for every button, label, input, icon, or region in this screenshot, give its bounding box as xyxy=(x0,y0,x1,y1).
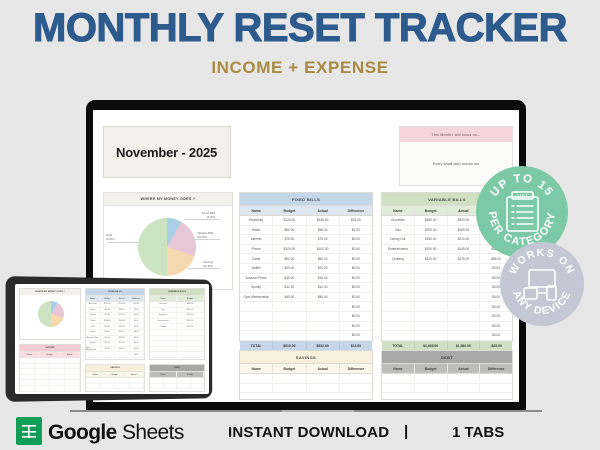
table-cell[interactable]: Netflix xyxy=(86,330,101,335)
header: MONTHLY RESET TRACKER INCOME + EXPENSE xyxy=(0,0,600,96)
month-label: November - 2025 xyxy=(116,145,217,160)
table-cell[interactable]: Gas xyxy=(382,226,415,235)
table-cell[interactable]: Electricity xyxy=(86,302,101,307)
table-cell[interactable] xyxy=(50,380,65,385)
table-cell[interactable]: $150.00 xyxy=(177,313,204,318)
badge-device-art: WORKS ON ANY DEVICE xyxy=(500,242,584,326)
col-difference: Difference xyxy=(480,364,512,373)
fixed-bills-header: Name Budget Actual Difference xyxy=(240,205,372,216)
table-cell[interactable] xyxy=(273,312,306,321)
table-cell[interactable] xyxy=(177,330,204,335)
table-cell[interactable]: $120.00 xyxy=(415,254,448,263)
page-subtitle: INCOME + EXPENSE xyxy=(0,58,600,78)
table-row[interactable] xyxy=(382,374,512,384)
table-cell[interactable] xyxy=(35,358,50,363)
table-row[interactable]: Gym Membership$45.00$45.00$0.00 xyxy=(240,293,372,303)
table-cell[interactable] xyxy=(50,358,65,363)
table-cell[interactable]: $15.00 xyxy=(115,336,130,341)
table-row[interactable]: $0.00 xyxy=(382,293,512,303)
table-cell[interactable]: $100.00 xyxy=(115,319,130,324)
table-cell[interactable] xyxy=(35,375,50,380)
table-cell[interactable] xyxy=(382,302,415,311)
table-cell[interactable] xyxy=(150,341,177,346)
table-cell[interactable] xyxy=(382,331,415,340)
table-row[interactable] xyxy=(150,352,204,358)
table-cell[interactable] xyxy=(35,386,50,391)
debt-rows xyxy=(382,374,512,393)
table-cell[interactable] xyxy=(130,384,145,389)
col-budget: Budget xyxy=(177,296,204,301)
table-cell[interactable]: Dining Out xyxy=(150,313,177,318)
table-cell[interactable]: $0.00 xyxy=(130,336,145,341)
table-cell[interactable]: $0.00 xyxy=(340,254,372,263)
tablet-variable-rows: Groceries$480.00Gas$200.00Dining Out$150… xyxy=(150,302,204,358)
table-cell[interactable]: $100.00 xyxy=(415,245,448,254)
table-cell[interactable] xyxy=(240,322,273,331)
table-cell[interactable] xyxy=(382,322,415,331)
table-cell[interactable] xyxy=(273,302,306,311)
table-cell[interactable]: $0.00 xyxy=(130,347,145,352)
table-cell[interactable]: Gym Membership xyxy=(86,347,101,352)
table-row[interactable]: $0.00 xyxy=(240,331,372,341)
table-cell[interactable]: $0.00 xyxy=(340,274,372,283)
table-cell[interactable] xyxy=(415,312,448,321)
table-row[interactable]: $0.00 xyxy=(86,352,144,358)
table-cell[interactable]: $135.00 xyxy=(115,302,130,307)
debt-table[interactable]: DEBT Name Budget Actual Difference xyxy=(381,350,513,400)
table-cell[interactable]: $12.00 xyxy=(273,283,306,292)
table-cell[interactable] xyxy=(415,374,448,383)
table-cell[interactable]: $0.00 xyxy=(130,324,145,329)
table-cell[interactable] xyxy=(115,384,130,389)
table-cell[interactable] xyxy=(240,374,273,383)
table-cell[interactable]: $12.00 xyxy=(101,341,116,346)
tablet-income-panel: INCOME Name Budget Actual xyxy=(19,344,81,392)
table-cell[interactable]: Internet xyxy=(240,235,273,244)
table-cell[interactable] xyxy=(35,369,50,374)
table-cell[interactable] xyxy=(65,386,80,391)
table-cell[interactable] xyxy=(50,369,65,374)
col-name: Name xyxy=(240,206,273,215)
table-cell[interactable]: $45.00 xyxy=(101,347,116,352)
table-cell[interactable] xyxy=(448,384,481,393)
table-cell[interactable] xyxy=(307,302,340,311)
table-cell[interactable] xyxy=(382,264,415,273)
table-cell[interactable] xyxy=(307,331,340,340)
col-difference: Difference xyxy=(340,364,372,373)
table-cell[interactable] xyxy=(448,312,481,321)
table-cell[interactable] xyxy=(50,364,65,369)
pie-chart-title: WHERE MY MONEY GOES ? xyxy=(104,193,232,206)
table-row[interactable]: $0.00 xyxy=(382,283,512,293)
table-cell[interactable] xyxy=(150,384,164,389)
table-cell[interactable]: $15.00 xyxy=(130,302,145,307)
table-row[interactable]: $0.00 xyxy=(240,312,372,322)
table-cell[interactable] xyxy=(340,374,372,383)
table-cell[interactable] xyxy=(240,312,273,321)
table-cell[interactable] xyxy=(130,389,145,394)
table-row[interactable]: $0.00 xyxy=(382,331,512,341)
table-cell[interactable]: $75.00 xyxy=(273,235,306,244)
table-row[interactable]: Amazon Prime$15.00$15.00$0.00 xyxy=(240,274,372,284)
table-cell[interactable]: $0.00 xyxy=(340,312,372,321)
table-cell[interactable]: Groceries xyxy=(150,302,177,307)
table-cell[interactable]: $0.00 xyxy=(340,331,372,340)
table-cell[interactable] xyxy=(101,389,116,394)
table-cell[interactable]: Gym Membership xyxy=(240,293,273,302)
table-cell[interactable]: $0.00 xyxy=(340,264,372,273)
table-cell[interactable] xyxy=(150,330,177,335)
table-cell[interactable]: $15.00 xyxy=(340,216,372,225)
table-row[interactable]: $0.00 xyxy=(382,264,512,274)
table-cell[interactable] xyxy=(115,352,130,357)
pie-label-debt: Debt(8.0%) xyxy=(106,234,115,241)
table-row[interactable] xyxy=(20,386,80,392)
table-row[interactable]: $0.00 xyxy=(382,274,512,284)
tablet-debt-panel: DEBT Name Budget xyxy=(149,364,205,392)
table-cell[interactable]: $120.00 xyxy=(273,216,306,225)
table-cell[interactable]: Amazon Prime xyxy=(240,274,273,283)
table-cell[interactable] xyxy=(382,384,415,393)
table-cell[interactable] xyxy=(480,374,512,383)
table-cell[interactable]: $20.00 xyxy=(101,330,116,335)
table-cell[interactable]: $0.00 xyxy=(130,341,145,346)
table-cell[interactable]: $100.00 xyxy=(177,319,204,324)
tablet-debt-header: Name Budget xyxy=(150,371,204,378)
table-cell[interactable]: $58.00 xyxy=(115,308,130,313)
table-cell[interactable] xyxy=(177,352,204,357)
table-cell[interactable] xyxy=(20,380,35,385)
table-cell[interactable] xyxy=(273,374,306,383)
table-cell[interactable]: $50.00 xyxy=(101,324,116,329)
tablet-savings-panel: SAVINGS Name Budget Actual xyxy=(85,364,145,392)
table-cell[interactable] xyxy=(448,374,481,383)
badge-any-device: WORKS ON ANY DEVICE xyxy=(500,242,584,326)
table-cell[interactable]: $0.00 xyxy=(340,283,372,292)
table-cell[interactable]: Spotify xyxy=(86,341,101,346)
tablet-savings-header: Name Budget Actual xyxy=(86,371,144,378)
table-cell[interactable]: Entertainment xyxy=(382,245,415,254)
table-cell[interactable] xyxy=(20,369,35,374)
table-cell[interactable] xyxy=(177,384,191,389)
table-cell[interactable] xyxy=(65,375,80,380)
table-cell[interactable]: $0.00 xyxy=(340,293,372,302)
table-row[interactable]: Water$60.00$58.00$2.00 xyxy=(240,226,372,236)
table-row[interactable]: Electricity$120.00$135.00$15.00 xyxy=(240,216,372,226)
table-cell[interactable]: $150.00 xyxy=(415,235,448,244)
table-cell[interactable] xyxy=(448,331,481,340)
table-cell[interactable] xyxy=(415,283,448,292)
col-name: Name xyxy=(240,364,273,373)
col-actual: Actual xyxy=(115,296,130,301)
table-row[interactable]: Cable$50.00$50.00$0.00 xyxy=(240,254,372,264)
table-cell[interactable]: $15.00 xyxy=(307,274,340,283)
table-cell[interactable] xyxy=(20,375,35,380)
page-title: MONTHLY RESET TRACKER xyxy=(0,6,600,51)
table-cell[interactable]: $12.00 xyxy=(115,341,130,346)
table-cell[interactable]: Water xyxy=(86,308,101,313)
table-cell[interactable] xyxy=(150,352,177,357)
table-cell[interactable]: $60.00 xyxy=(101,308,116,313)
table-cell[interactable]: Phone xyxy=(86,319,101,324)
debt-title: DEBT xyxy=(382,351,512,363)
table-cell[interactable] xyxy=(65,358,80,363)
table-cell[interactable] xyxy=(273,331,306,340)
table-cell[interactable]: $100.00 xyxy=(307,245,340,254)
col-actual: Actual xyxy=(60,352,80,357)
table-cell[interactable] xyxy=(307,322,340,331)
table-cell[interactable] xyxy=(448,274,481,283)
table-cell[interactable] xyxy=(480,384,512,393)
table-cell[interactable]: Internet xyxy=(86,313,101,318)
table-row[interactable] xyxy=(240,374,372,384)
table-cell[interactable] xyxy=(150,336,177,341)
table-cell[interactable] xyxy=(415,384,448,393)
table-cell[interactable] xyxy=(177,341,204,346)
tablet-variable-panel: VARIABLE BILLS Name Budget Groceries$480… xyxy=(149,288,205,360)
tablet-savings-rows xyxy=(86,378,144,394)
table-cell[interactable]: $45.00 xyxy=(307,293,340,302)
table-cell[interactable]: $15.00 xyxy=(273,274,306,283)
table-cell[interactable]: $50.00 xyxy=(273,254,306,263)
table-cell[interactable] xyxy=(415,274,448,283)
table-cell[interactable] xyxy=(448,302,481,311)
table-cell[interactable] xyxy=(448,293,481,302)
table-cell[interactable] xyxy=(415,302,448,311)
tablet-pie-chart xyxy=(38,301,64,327)
instant-download-label: INSTANT DOWNLOAD xyxy=(228,424,389,441)
col-budget: Budget xyxy=(105,372,124,377)
table-cell[interactable]: Cable xyxy=(86,324,101,329)
table-cell[interactable] xyxy=(35,364,50,369)
table-cell[interactable]: Netflix xyxy=(240,264,273,273)
table-cell[interactable] xyxy=(240,302,273,311)
table-cell[interactable] xyxy=(273,384,306,393)
table-cell[interactable] xyxy=(340,384,372,393)
svg-text:WORKS ON: WORKS ON xyxy=(507,247,577,277)
savings-rows xyxy=(240,374,372,393)
table-cell[interactable]: Clothing xyxy=(150,324,177,329)
table-cell[interactable]: $75.00 xyxy=(115,313,130,318)
table-cell[interactable] xyxy=(273,322,306,331)
table-row[interactable] xyxy=(86,389,144,394)
fixed-bills-rows: Electricity$120.00$135.00$15.00Water$60.… xyxy=(240,216,372,341)
col-name: Name xyxy=(86,296,101,301)
table-cell[interactable]: $45.00 xyxy=(273,293,306,302)
table-cell[interactable]: Entertainment xyxy=(150,319,177,324)
table-row[interactable] xyxy=(382,384,512,394)
table-cell[interactable]: $0.00 xyxy=(130,352,145,357)
savings-table[interactable]: SAVINGS Name Budget Actual Difference xyxy=(239,350,373,400)
table-cell[interactable]: $75.00 xyxy=(101,313,116,318)
col-name: Name xyxy=(150,296,177,301)
table-row[interactable]: Spotify$12.00$12.00$0.00 xyxy=(240,283,372,293)
table-cell[interactable]: $0.00 xyxy=(340,235,372,244)
col-budget: Budget xyxy=(273,206,306,215)
col-actual: Actual xyxy=(125,372,144,377)
table-cell[interactable] xyxy=(164,384,178,389)
table-row[interactable]: Netflix$20.00$20.00$0.00 xyxy=(240,264,372,274)
table-row[interactable]: $0.00 xyxy=(240,302,372,312)
table-cell[interactable]: $480.00 xyxy=(177,302,204,307)
table-cell[interactable]: $100.00 xyxy=(101,319,116,324)
table-cell[interactable] xyxy=(307,374,340,383)
table-cell[interactable]: $20.00 xyxy=(115,330,130,335)
table-cell[interactable]: $120.00 xyxy=(177,324,204,329)
table-cell[interactable] xyxy=(65,380,80,385)
col-name: Name xyxy=(150,372,177,377)
table-cell[interactable]: $15.00 xyxy=(101,336,116,341)
table-cell[interactable] xyxy=(191,378,205,383)
table-cell[interactable]: Clothing xyxy=(382,254,415,263)
table-cell[interactable]: $0.00 xyxy=(340,302,372,311)
table-cell[interactable] xyxy=(35,380,50,385)
table-cell[interactable] xyxy=(177,378,191,383)
table-cell[interactable]: Amazon Prime xyxy=(86,336,101,341)
table-cell[interactable] xyxy=(150,347,177,352)
table-cell[interactable] xyxy=(150,378,164,383)
table-cell[interactable] xyxy=(415,293,448,302)
table-row[interactable]: Phone$100.00$100.00$0.00 xyxy=(240,245,372,255)
table-cell[interactable] xyxy=(115,378,130,383)
table-cell[interactable]: $135.00 xyxy=(307,216,340,225)
table-cell[interactable]: $200.00 xyxy=(415,226,448,235)
table-cell[interactable] xyxy=(65,364,80,369)
table-cell[interactable] xyxy=(150,389,164,394)
table-cell[interactable] xyxy=(101,384,116,389)
table-row[interactable]: $0.00 xyxy=(382,302,512,312)
table-row[interactable]: $0.00 xyxy=(382,322,512,332)
table-cell[interactable]: $0.00 xyxy=(340,245,372,254)
table-cell[interactable]: $58.00 xyxy=(307,226,340,235)
table-cell[interactable]: Dining Out xyxy=(382,235,415,244)
table-cell[interactable]: $12.00 xyxy=(307,283,340,292)
table-cell[interactable]: Water xyxy=(240,226,273,235)
table-cell[interactable] xyxy=(50,386,65,391)
col-budget: Budget xyxy=(101,296,116,301)
tablet-variable-header: Name Budget xyxy=(150,295,204,302)
table-cell[interactable]: Spotify xyxy=(240,283,273,292)
table-cell[interactable] xyxy=(20,364,35,369)
table-cell[interactable] xyxy=(448,283,481,292)
google-sheets-wordmark: Google Sheets xyxy=(48,421,184,445)
table-cell[interactable]: $480.00 xyxy=(415,216,448,225)
table-cell[interactable] xyxy=(86,352,101,357)
table-cell[interactable] xyxy=(382,312,415,321)
col-name: Name xyxy=(382,364,415,373)
table-cell[interactable] xyxy=(191,389,205,394)
table-cell[interactable]: Groceries xyxy=(382,216,415,225)
table-cell[interactable] xyxy=(240,384,273,393)
table-cell[interactable]: $0.00 xyxy=(130,319,145,324)
table-cell[interactable] xyxy=(164,389,178,394)
table-cell[interactable]: $75.00 xyxy=(307,235,340,244)
tablet-pie-title: WHERE MY MONEY GOES ? xyxy=(20,289,80,295)
table-cell[interactable] xyxy=(307,312,340,321)
tabs-count-label: 1 TABS xyxy=(452,424,504,441)
table-cell[interactable]: $20.00 xyxy=(273,264,306,273)
table-cell[interactable]: Electricity xyxy=(240,216,273,225)
col-budget: Budget xyxy=(177,372,204,377)
table-cell[interactable] xyxy=(101,378,116,383)
table-cell[interactable]: $2.00 xyxy=(130,308,145,313)
table-row[interactable] xyxy=(150,389,204,394)
table-cell[interactable] xyxy=(307,384,340,393)
table-cell[interactable]: $200.00 xyxy=(177,308,204,313)
table-cell[interactable] xyxy=(448,264,481,273)
pie-label-savings: Savings(11.9%) xyxy=(203,261,213,268)
table-cell[interactable] xyxy=(191,384,205,389)
table-cell[interactable] xyxy=(415,322,448,331)
tablet-screen: WHERE MY MONEY GOES ? FIXED BILLS Name B… xyxy=(15,284,209,394)
table-cell[interactable]: Phone xyxy=(240,245,273,254)
tablet-fixed-header: Name Budget Actual Difference xyxy=(86,295,144,302)
table-cell[interactable]: $0.00 xyxy=(340,322,372,331)
table-cell[interactable] xyxy=(177,347,204,352)
col-actual: Actual xyxy=(307,206,340,215)
table-cell[interactable] xyxy=(130,378,145,383)
table-cell[interactable] xyxy=(382,374,415,383)
table-cell[interactable] xyxy=(382,293,415,302)
table-cell[interactable] xyxy=(20,386,35,391)
table-cell[interactable] xyxy=(164,378,178,383)
table-cell[interactable]: $0.00 xyxy=(480,331,512,340)
col-budget: Budget xyxy=(273,364,306,373)
table-row[interactable]: $0.00 xyxy=(240,322,372,332)
table-cell[interactable]: $60.00 xyxy=(273,226,306,235)
table-cell[interactable]: $45.00 xyxy=(115,347,130,352)
table-cell[interactable]: $100.00 xyxy=(273,245,306,254)
savings-header: Name Budget Actual Difference xyxy=(240,363,372,374)
month-title-cell[interactable]: November - 2025 xyxy=(103,126,231,178)
table-cell[interactable] xyxy=(86,389,101,394)
table-cell[interactable] xyxy=(86,378,101,383)
table-cell[interactable]: $0.00 xyxy=(130,330,145,335)
brand-bold: Google xyxy=(48,421,117,444)
table-cell[interactable] xyxy=(415,264,448,273)
table-cell[interactable] xyxy=(86,384,101,389)
pie-chart-area: Debt(8.0%) Fixed Bills(6.3%) Variable Bi… xyxy=(104,206,232,289)
table-row[interactable]: $0.00 xyxy=(382,312,512,322)
table-cell[interactable] xyxy=(177,389,191,394)
table-cell[interactable] xyxy=(65,369,80,374)
fixed-bills-table[interactable]: FIXED BILLS Name Budget Actual Differenc… xyxy=(239,192,373,342)
table-cell[interactable]: $0.00 xyxy=(130,313,145,318)
col-budget: Budget xyxy=(415,206,448,215)
footer-bar: Google Sheets INSTANT DOWNLOAD | 1 TABS xyxy=(0,412,600,450)
table-cell[interactable] xyxy=(177,336,204,341)
table-cell[interactable]: $120.00 xyxy=(101,302,116,307)
table-cell[interactable]: $2.00 xyxy=(340,226,372,235)
google-sheets-icon xyxy=(16,417,42,445)
table-cell[interactable] xyxy=(50,375,65,380)
table-row[interactable]: Internet$75.00$75.00$0.00 xyxy=(240,235,372,245)
table-cell[interactable] xyxy=(101,352,116,357)
table-cell[interactable] xyxy=(240,331,273,340)
table-cell[interactable]: Gas xyxy=(150,308,177,313)
table-cell[interactable] xyxy=(115,389,130,394)
table-cell[interactable] xyxy=(382,274,415,283)
table-cell[interactable]: $20.00 xyxy=(307,264,340,273)
table-cell[interactable] xyxy=(382,283,415,292)
table-row[interactable] xyxy=(240,384,372,394)
table-cell[interactable]: $50.00 xyxy=(307,254,340,263)
table-cell[interactable] xyxy=(415,331,448,340)
table-cell[interactable]: Cable xyxy=(240,254,273,263)
table-cell[interactable] xyxy=(448,322,481,331)
table-cell[interactable] xyxy=(20,358,35,363)
table-cell[interactable]: $50.00 xyxy=(115,324,130,329)
